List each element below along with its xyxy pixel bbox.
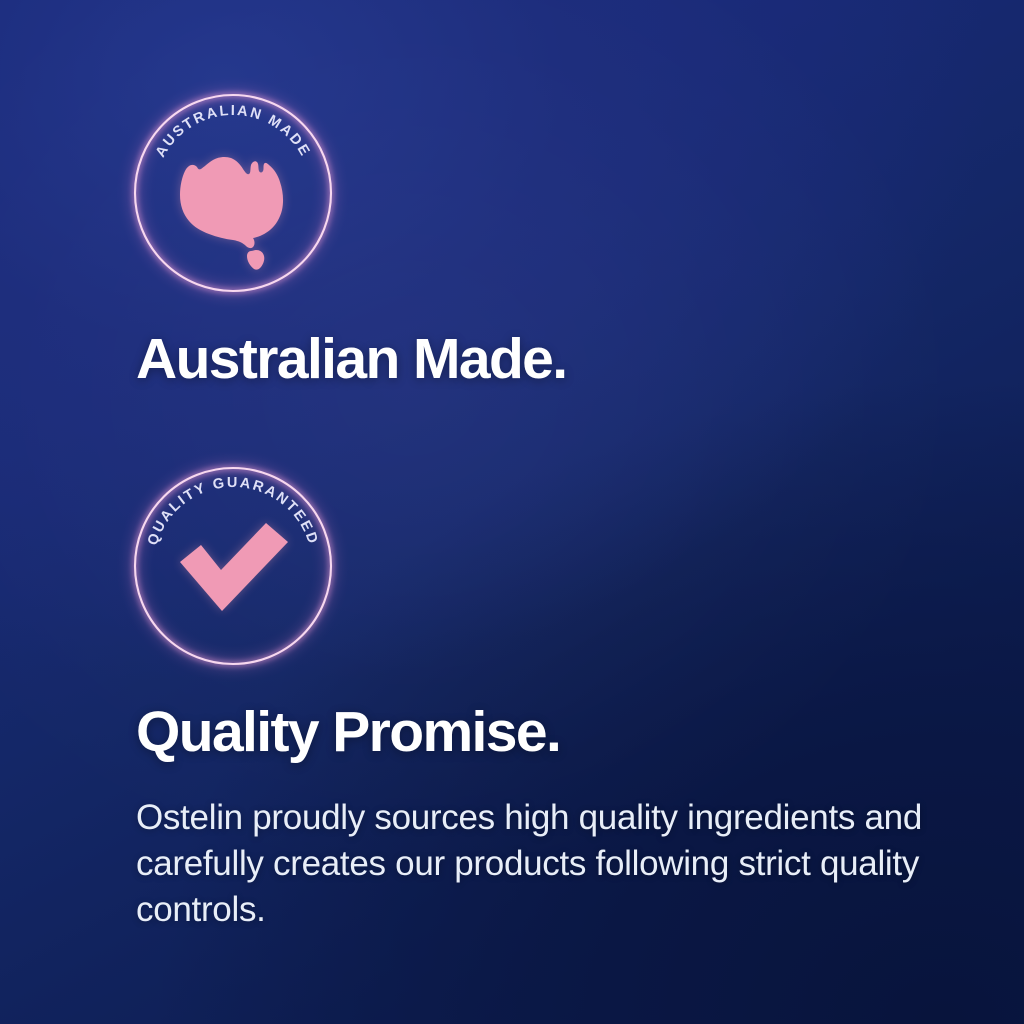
heading-australian-made: Australian Made. — [136, 330, 567, 389]
checkmark-icon — [180, 523, 288, 611]
quality-guaranteed-badge-graphic: QUALITY GUARANTEED — [133, 466, 333, 666]
badge-quality-guaranteed: QUALITY GUARANTEED — [133, 466, 333, 666]
australia-map-icon — [180, 157, 283, 270]
australian-made-badge-graphic: AUSTRALIAN MADE — [133, 93, 333, 293]
promo-card: AUSTRALIAN MADE Australian Made. QUALITY… — [0, 0, 1024, 1024]
badge-australian-made: AUSTRALIAN MADE — [133, 93, 333, 293]
paragraph-quality-promise: Ostelin proudly sources high quality ing… — [136, 795, 926, 933]
heading-quality-promise: Quality Promise. — [136, 703, 560, 762]
